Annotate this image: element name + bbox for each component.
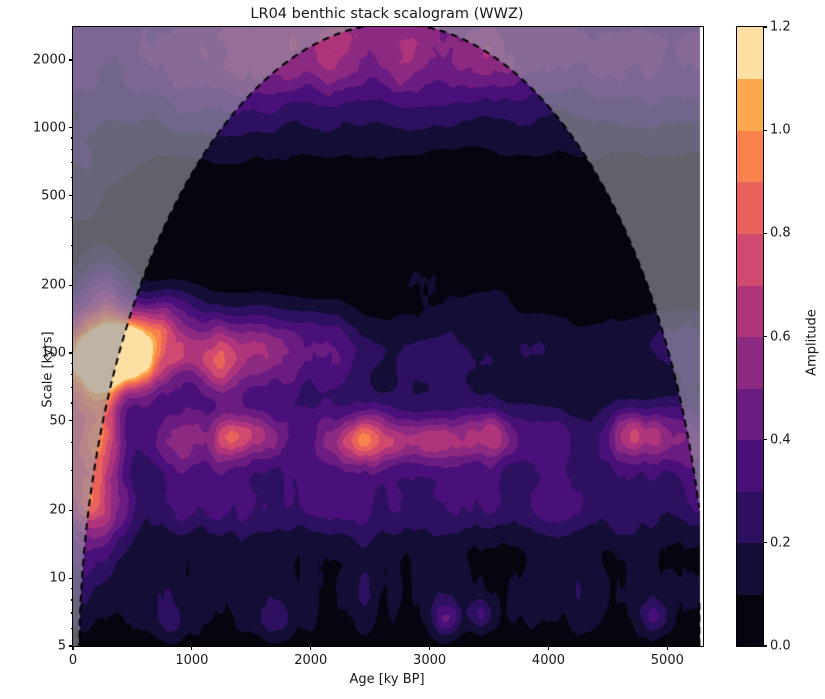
y-tick-mark bbox=[69, 352, 73, 353]
y-minor-tick-mark bbox=[71, 137, 73, 138]
y-minor-tick-mark bbox=[71, 387, 73, 388]
y-minor-tick-mark bbox=[71, 470, 73, 471]
y-minor-tick-mark bbox=[71, 599, 73, 600]
y-tick-label: 200 bbox=[41, 278, 66, 293]
colorbar-band bbox=[737, 337, 763, 389]
y-minor-tick-mark bbox=[71, 177, 73, 178]
y-tick-mark bbox=[69, 285, 73, 286]
colorbar-tick-label: 1.2 bbox=[770, 20, 791, 35]
colorbar-band bbox=[737, 285, 763, 337]
colorbar-tick-mark bbox=[763, 542, 767, 543]
y-minor-tick-mark bbox=[71, 149, 73, 150]
colorbar: 0.00.20.40.60.81.01.2 bbox=[736, 26, 764, 647]
y-minor-tick-mark bbox=[71, 628, 73, 629]
scalogram-heatmap bbox=[73, 27, 703, 646]
colorbar-band bbox=[737, 594, 763, 646]
y-minor-tick-mark bbox=[71, 612, 73, 613]
y-tick-label: 2000 bbox=[33, 52, 66, 67]
x-tick-label: 2000 bbox=[294, 653, 327, 668]
x-tick-mark bbox=[429, 646, 430, 650]
y-tick-mark bbox=[69, 195, 73, 196]
x-axis-label: Age [ky BP] bbox=[72, 672, 702, 687]
colorbar-band bbox=[737, 543, 763, 595]
colorbar-band bbox=[737, 27, 763, 79]
y-tick-label: 5 bbox=[58, 639, 66, 654]
y-minor-tick-mark bbox=[71, 442, 73, 443]
colorbar-tick-label: 0.0 bbox=[770, 639, 791, 654]
colorbar-label: Amplitude bbox=[805, 309, 820, 376]
y-tick-mark bbox=[69, 59, 73, 60]
y-tick-label: 100 bbox=[41, 345, 66, 360]
colorbar-band bbox=[737, 79, 763, 131]
y-tick-label: 20 bbox=[49, 503, 66, 518]
colorbar-tick-label: 1.0 bbox=[770, 123, 791, 138]
y-tick-mark bbox=[69, 420, 73, 421]
colorbar-tick-label: 0.4 bbox=[770, 432, 791, 447]
y-tick-label: 50 bbox=[49, 413, 66, 428]
y-minor-tick-mark bbox=[71, 162, 73, 163]
colorbar-tick-mark bbox=[763, 645, 767, 646]
y-minor-tick-mark bbox=[71, 363, 73, 364]
page-title: LR04 benthic stack scalogram (WWZ) bbox=[72, 4, 702, 24]
y-minor-tick-mark bbox=[71, 402, 73, 403]
colorbar-tick-label: 0.2 bbox=[770, 535, 791, 550]
colorbar-band bbox=[737, 130, 763, 182]
y-minor-tick-mark bbox=[71, 588, 73, 589]
colorbar-band bbox=[737, 440, 763, 492]
colorbar-tick-mark bbox=[763, 233, 767, 234]
x-tick-mark bbox=[191, 646, 192, 650]
colorbar-tick-mark bbox=[763, 439, 767, 440]
y-tick-mark bbox=[69, 578, 73, 579]
x-tick-mark bbox=[548, 646, 549, 650]
x-tick-mark bbox=[310, 646, 311, 650]
colorbar-band bbox=[737, 388, 763, 440]
x-tick-mark bbox=[72, 646, 73, 650]
y-minor-tick-mark bbox=[71, 245, 73, 246]
y-tick-label: 1000 bbox=[33, 120, 66, 135]
y-minor-tick-mark bbox=[71, 374, 73, 375]
colorbar-band bbox=[737, 182, 763, 234]
colorbar-tick-label: 0.6 bbox=[770, 329, 791, 344]
colorbar-band bbox=[737, 491, 763, 543]
colorbar-band bbox=[737, 233, 763, 285]
x-tick-mark bbox=[667, 646, 668, 650]
x-tick-label: 1000 bbox=[175, 653, 208, 668]
x-tick-label: 4000 bbox=[532, 653, 565, 668]
y-tick-label: 500 bbox=[41, 188, 66, 203]
figure-canvas: LR04 benthic stack scalogram (WWZ) Scale… bbox=[0, 0, 825, 699]
y-minor-tick-mark bbox=[71, 217, 73, 218]
y-tick-label: 10 bbox=[49, 571, 66, 586]
x-tick-label: 5000 bbox=[651, 653, 684, 668]
scalogram-axes: Scale [kyrs] 510205010020050010002000 01… bbox=[72, 26, 704, 647]
colorbar-tick-mark bbox=[763, 130, 767, 131]
y-tick-mark bbox=[69, 510, 73, 511]
x-tick-label: 3000 bbox=[413, 653, 446, 668]
x-tick-label: 0 bbox=[69, 653, 77, 668]
colorbar-tick-mark bbox=[763, 336, 767, 337]
y-tick-mark bbox=[69, 127, 73, 128]
colorbar-tick-mark bbox=[763, 26, 767, 27]
y-axis-label: Scale [kyrs] bbox=[41, 331, 56, 407]
colorbar-tick-label: 0.8 bbox=[770, 226, 791, 241]
